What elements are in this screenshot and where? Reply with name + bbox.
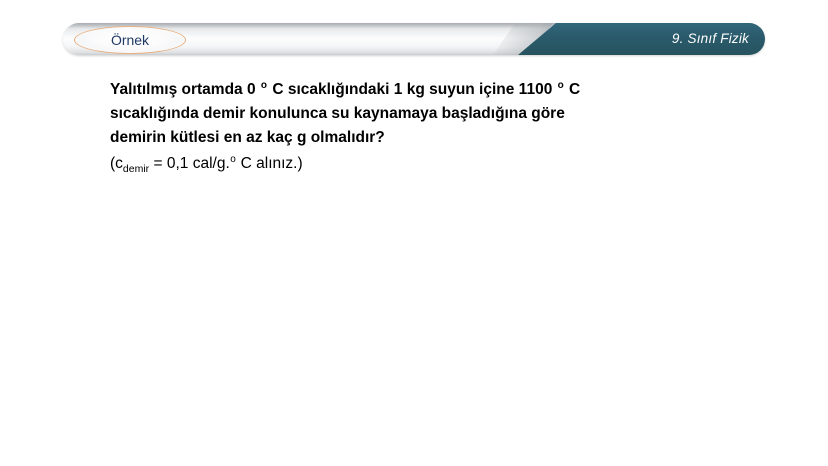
slide-header-banner: 9. Sınıf Fizik Örnek — [63, 23, 765, 55]
question-content: Yalıtılmış ortamda 0 o C sıcaklığındaki … — [110, 78, 770, 176]
example-badge-label: Örnek — [111, 33, 149, 47]
banner-teal-panel: 9. Sınıf Fizik — [518, 23, 765, 55]
slide-canvas: { "banner": { "badge_label": "Örnek", "c… — [0, 0, 828, 466]
constant-part-b: = 0,1 cal/g. — [149, 155, 230, 172]
example-badge: Örnek — [74, 26, 186, 54]
question-line-3: demirin kütlesi en az kaç g olmalıdır? — [110, 126, 770, 150]
constant-subscript: demir — [123, 163, 149, 175]
question-line-1-part-b: C sıcaklığındaki 1 kg suyun içine 1100 — [268, 81, 557, 98]
question-line-1: Yalıtılmış ortamda 0 o C sıcaklığındaki … — [110, 78, 770, 102]
degree-symbol-2: o — [557, 80, 565, 91]
degree-symbol-1: o — [260, 80, 268, 91]
question-line-1-part-c: C — [565, 81, 581, 98]
course-label: 9. Sınıf Fizik — [672, 23, 749, 55]
question-line-1-part-a: Yalıtılmış ortamda 0 — [110, 81, 260, 98]
question-given-constant: (cdemir = 0,1 cal/g.o C alınız.) — [110, 152, 770, 176]
question-line-2: sıcaklığında demir konulunca su kaynamay… — [110, 102, 770, 126]
constant-part-a: (c — [110, 155, 123, 172]
constant-part-c: C alınız.) — [236, 155, 302, 172]
